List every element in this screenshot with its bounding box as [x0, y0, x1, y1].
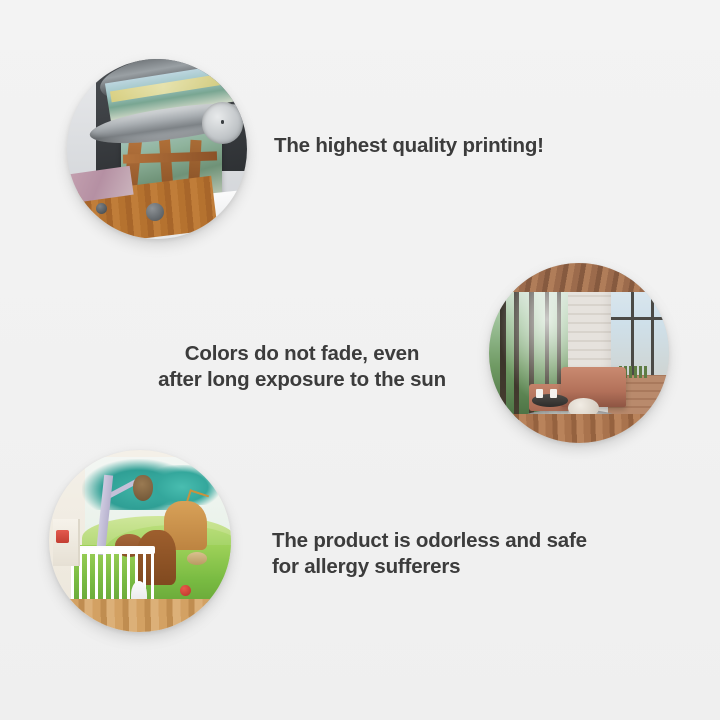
- loft-forest-mural-photo: [489, 263, 669, 443]
- feature-caption-odorless-safe: The product is odorless and safe for all…: [272, 528, 587, 580]
- nursery-animals-mural-photo: [49, 450, 231, 632]
- infographic-canvas: The highest quality printing!: [0, 0, 720, 720]
- feature-image-color-fastness: [489, 263, 669, 443]
- feature-image-printing-quality: [67, 59, 247, 239]
- feature-caption-printing-quality: The highest quality printing!: [274, 133, 544, 159]
- feature-image-odorless-safe: [49, 450, 231, 632]
- printing-press-photo: [67, 59, 247, 239]
- feature-caption-color-fastness: Colors do not fade, even after long expo…: [152, 341, 452, 393]
